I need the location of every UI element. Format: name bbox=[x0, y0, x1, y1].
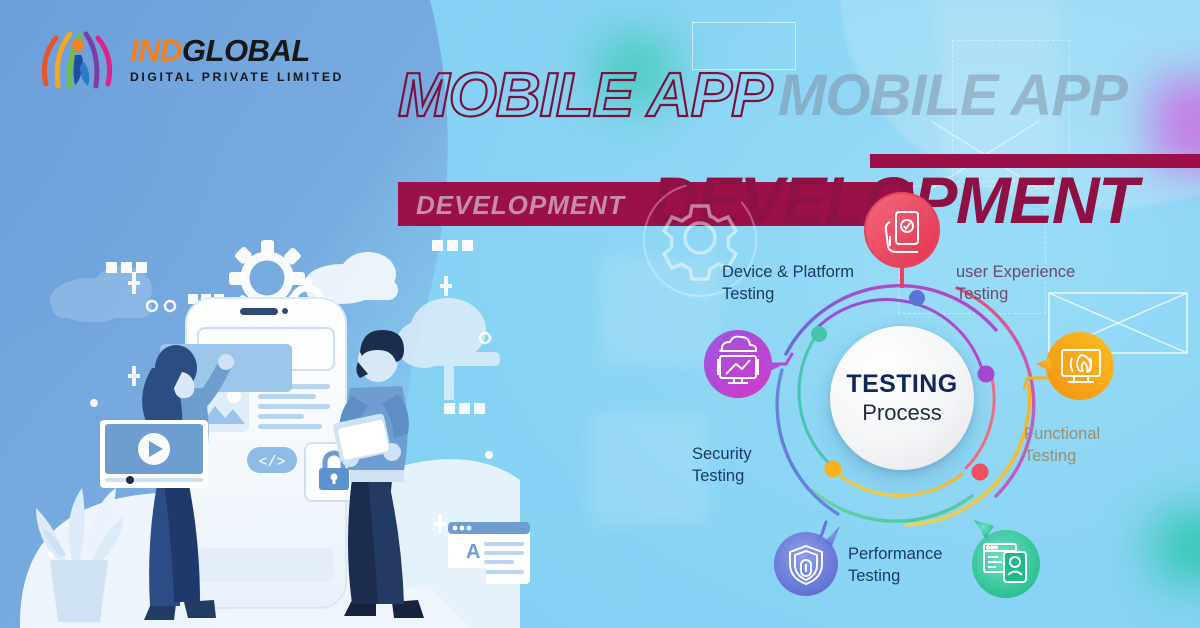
node-cloud-monitor-icon-bubble[interactable] bbox=[696, 326, 780, 404]
node-functional-icon-bubble[interactable] bbox=[1036, 328, 1120, 404]
brand-wordmark: INDGLOBAL DIGITAL PRIVATE LIMITED bbox=[130, 35, 344, 83]
node-label-functional: Functional Testing bbox=[1024, 424, 1154, 468]
node-label-security: Security Testing bbox=[692, 444, 822, 488]
brand-name-part2: GLOBAL bbox=[182, 33, 310, 68]
center-title: TESTING bbox=[846, 370, 957, 399]
center-subtitle: Process bbox=[862, 400, 941, 426]
node-label-device-platform: Device & Platform Testing bbox=[722, 262, 902, 306]
brand-tagline: DIGITAL PRIVATE LIMITED bbox=[130, 71, 344, 83]
diagram-center-badge: TESTING Process bbox=[830, 326, 974, 470]
indglobal-fan-logo-icon bbox=[34, 28, 120, 90]
brand-logo[interactable]: INDGLOBAL DIGITAL PRIVATE LIMITED bbox=[34, 28, 344, 90]
headline-ghost-text: MOBILE APP bbox=[778, 62, 1127, 129]
headline-bar-text: DEVELOPMENT bbox=[416, 190, 625, 221]
node-label-performance: Performance Testing bbox=[848, 544, 998, 588]
document-icon: A bbox=[440, 522, 530, 586]
svg-text:A: A bbox=[466, 541, 480, 563]
testing-process-diagram: TESTING Process bbox=[636, 178, 1196, 628]
svg-text:</>: </> bbox=[258, 454, 285, 471]
node-security-icon-bubble[interactable] bbox=[766, 520, 850, 604]
node-label-user-experience: user Experience Testing bbox=[956, 262, 1126, 306]
video-player-icon bbox=[100, 420, 208, 488]
page-title: MOBILE APP MOBILE APP DEVELOPMENT DEVELO… bbox=[398, 56, 1110, 182]
headline-outline-text: MOBILE APP bbox=[398, 60, 772, 131]
banner-canvas: </> bbox=[0, 0, 1200, 628]
brand-name-part1: IND bbox=[130, 33, 182, 68]
